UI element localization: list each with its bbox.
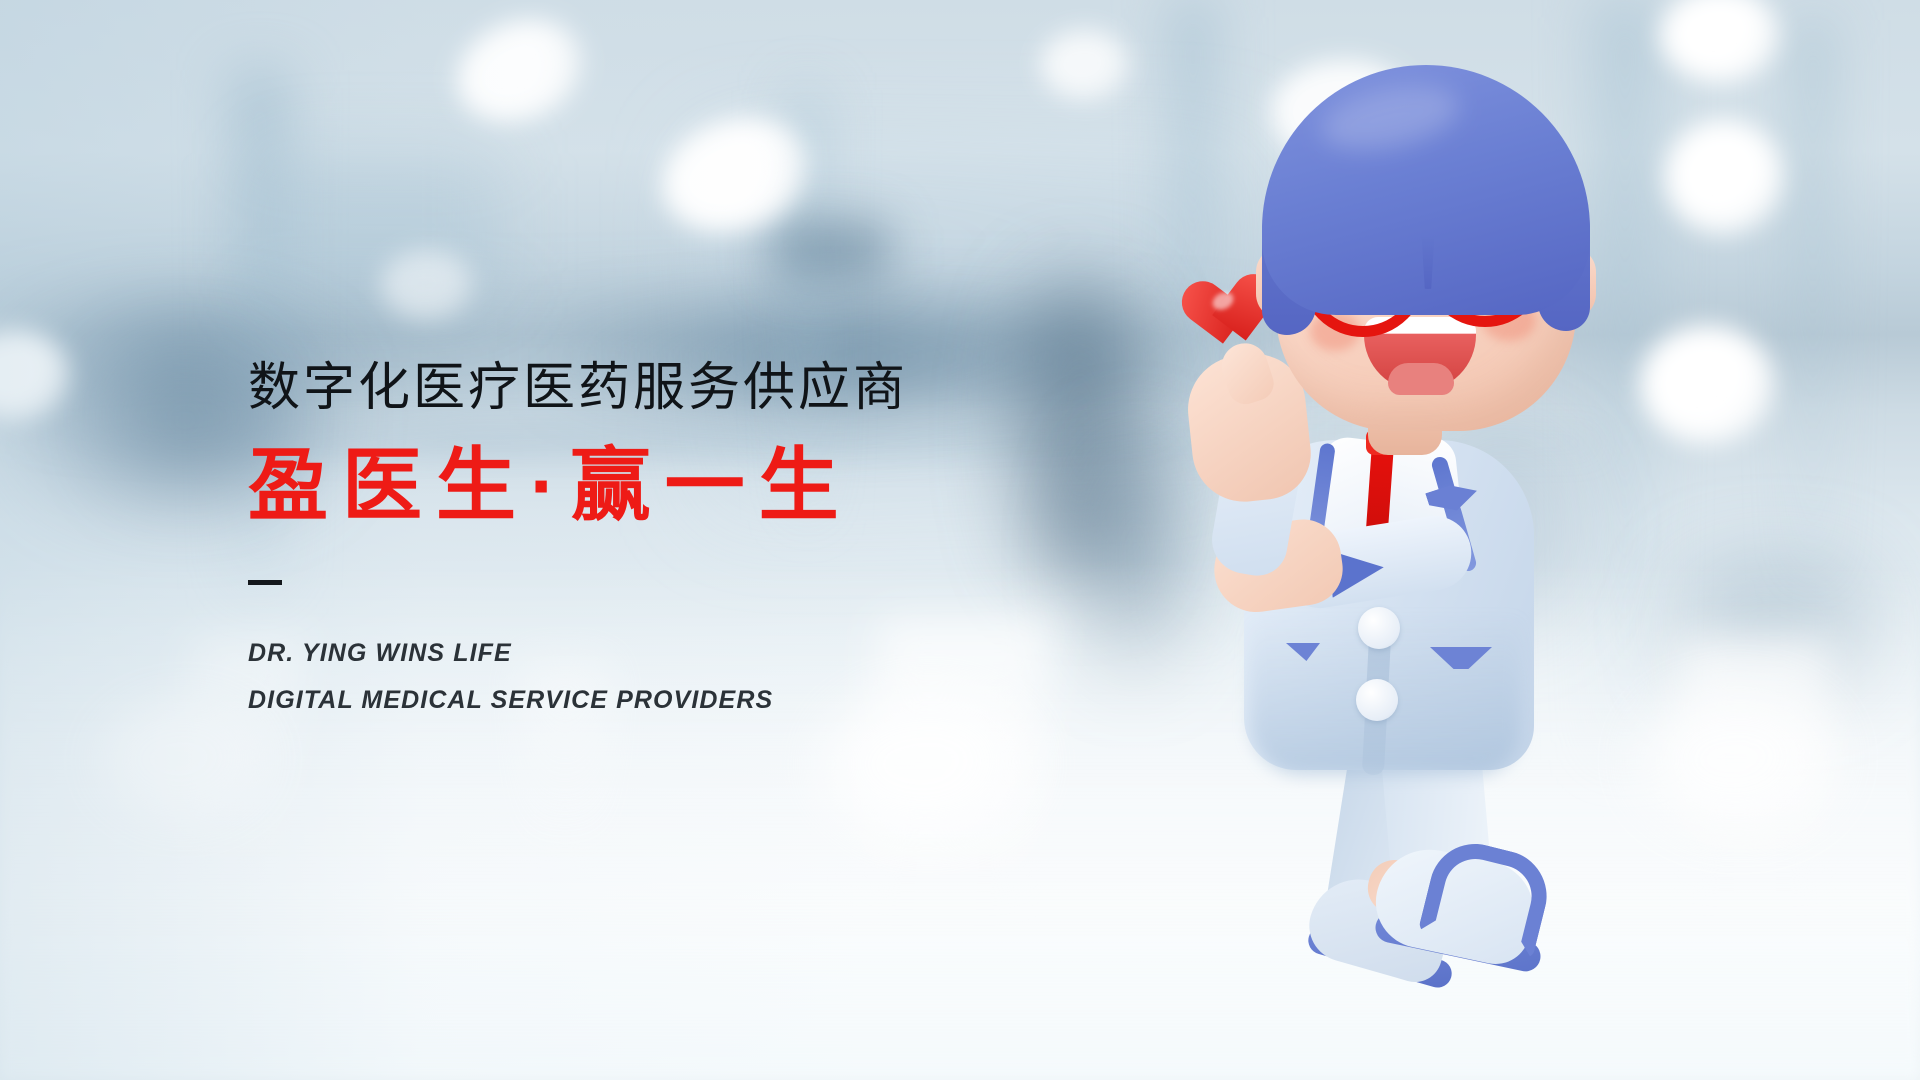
mascot-coat-button bbox=[1356, 679, 1398, 721]
hero-banner: 数字化医疗医药服务供应商 盈医生·赢一生 DR. YING WINS LIFE … bbox=[0, 0, 1920, 1080]
slogan-chinese: 盈医生·赢一生 bbox=[248, 443, 1148, 529]
doctor-mascot-illustration bbox=[1190, 55, 1710, 1065]
divider-dash bbox=[248, 580, 282, 585]
mascot-tongue bbox=[1388, 363, 1454, 395]
subtitle-english-block: DR. YING WINS LIFE DIGITAL MEDICAL SERVI… bbox=[248, 637, 1148, 719]
subtitle-line-1: DR. YING WINS LIFE bbox=[248, 637, 1148, 671]
hero-copy-block: 数字化医疗医药服务供应商 盈医生·赢一生 DR. YING WINS LIFE … bbox=[248, 360, 1148, 732]
subtitle-line-2: DIGITAL MEDICAL SERVICE PROVIDERS bbox=[248, 684, 1148, 718]
headline-chinese: 数字化医疗医药服务供应商 bbox=[248, 360, 1148, 417]
mascot-coat-button bbox=[1358, 607, 1400, 649]
